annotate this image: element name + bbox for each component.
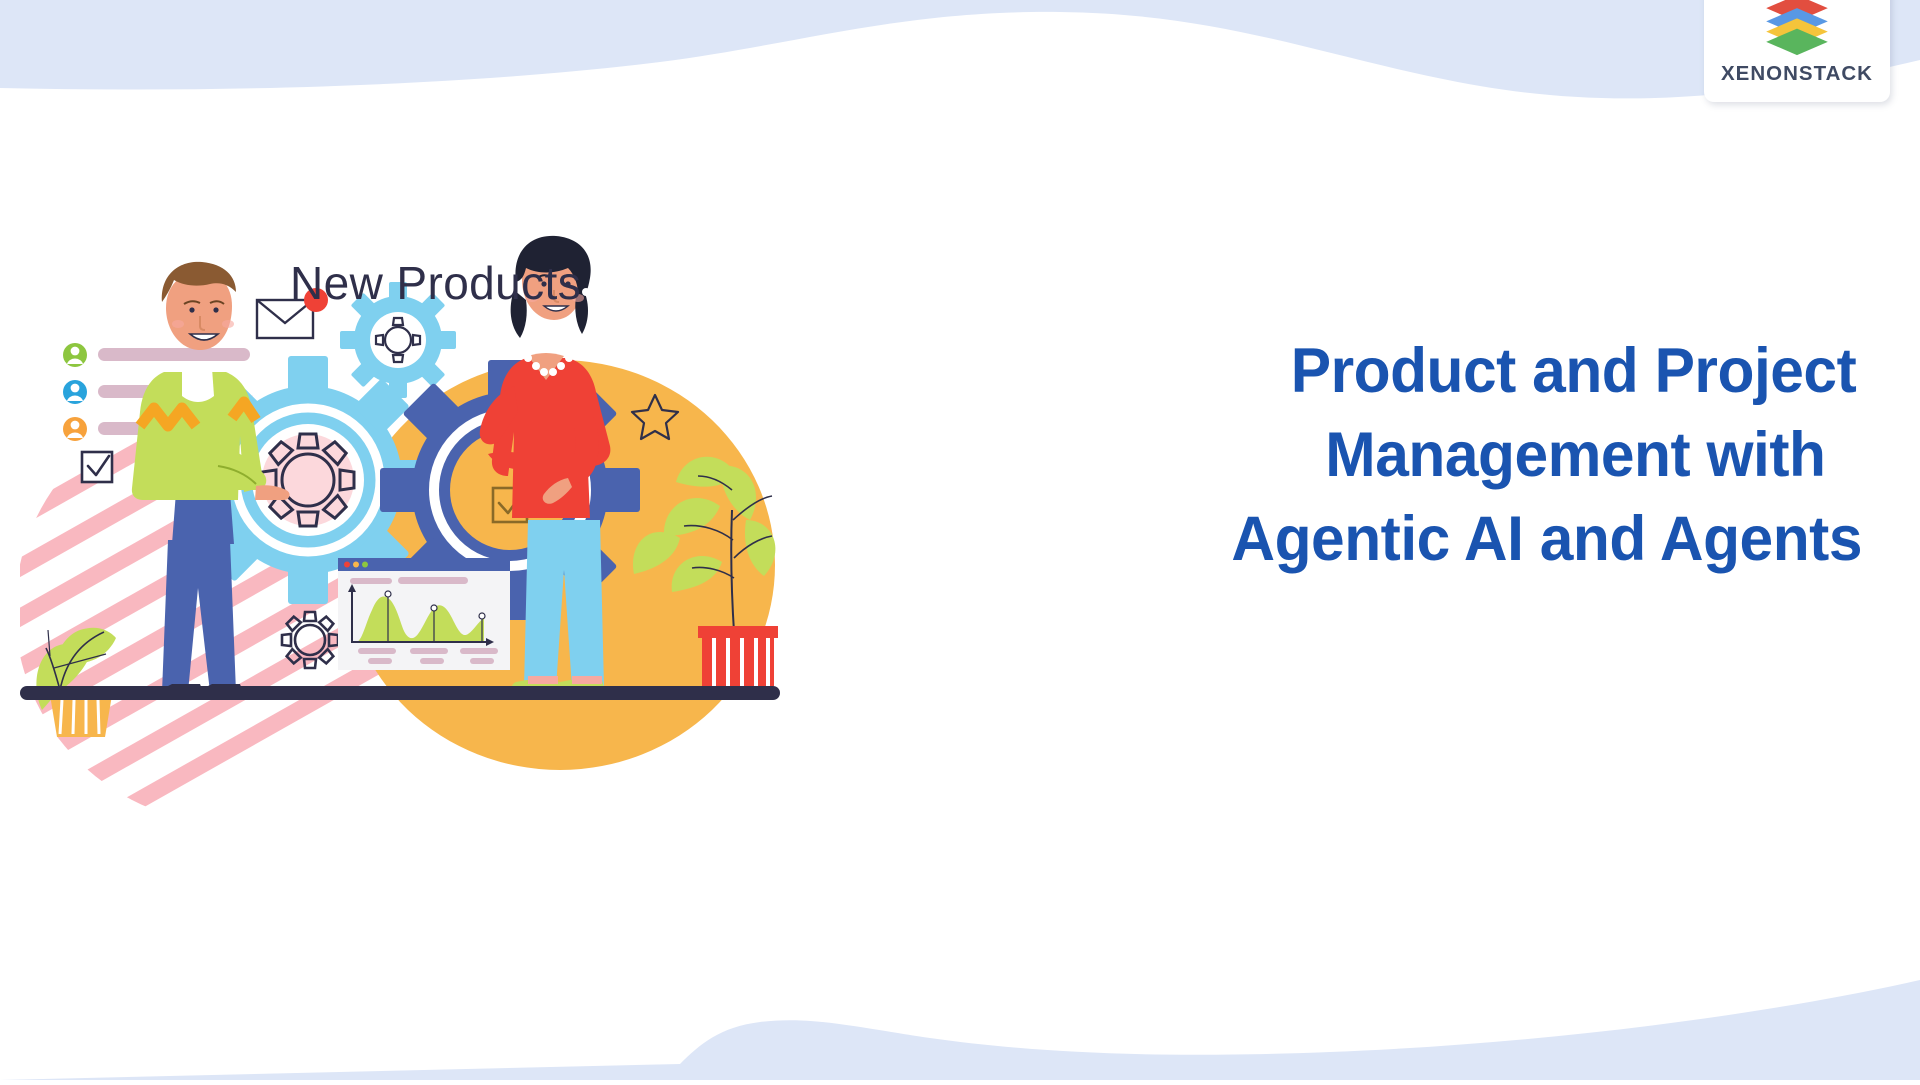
window-dot-minimize[interactable] [353, 562, 359, 568]
checkbox-left [82, 452, 112, 482]
window-placeholder-bar-1 [350, 578, 392, 584]
window-placeholder-bar-2 [398, 577, 468, 584]
page-title-line-3: Agentic AI and Agents [998, 498, 1862, 582]
illustration-heading: New Products [290, 256, 581, 310]
top-wave-decoration [0, 0, 1920, 110]
brand-wordmark: XENONSTACK [1721, 62, 1873, 86]
bottom-wave-decoration [0, 960, 1920, 1080]
window-dot-close[interactable] [344, 562, 350, 568]
page-title: Product and Project Management with Agen… [998, 330, 1862, 581]
brand-logo-card[interactable]: XENONSTACK [1704, 0, 1890, 102]
xenonstack-logo-icon [1760, 0, 1834, 58]
chart-window[interactable] [338, 558, 510, 670]
floor-line [20, 686, 780, 700]
window-dot-maximize[interactable] [362, 562, 368, 568]
page-title-line-1: Product and Project [998, 330, 1862, 414]
page-title-line-2: Management with [998, 414, 1862, 498]
checklist-bar-1 [98, 348, 250, 361]
